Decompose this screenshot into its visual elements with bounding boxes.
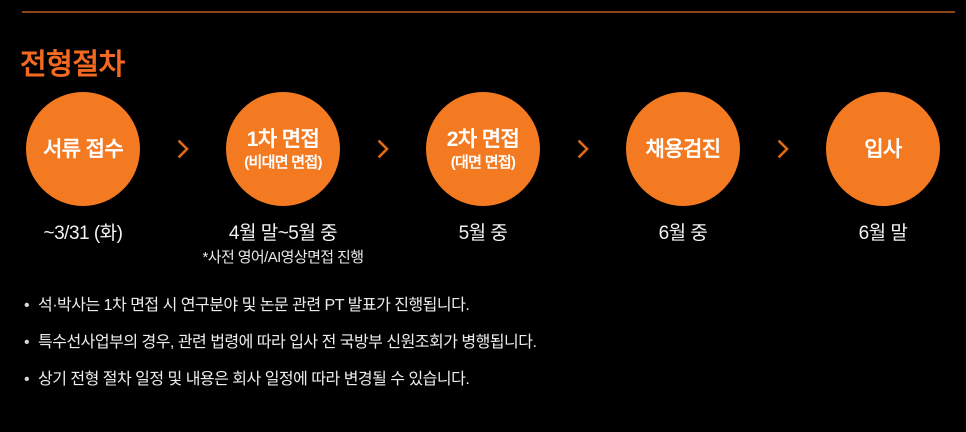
process-step-3-sublabel: (대면 면접): [451, 153, 515, 172]
process-step-1-label: 서류 접수: [43, 137, 123, 162]
process-step-2: 1차 면접 (비대면 면접) 4월 말~5월 중 *사전 영어/AI영상면접 진…: [195, 92, 371, 268]
process-step-1: 서류 접수 ~3/31 (화): [0, 92, 171, 246]
bullet-icon: •: [24, 369, 38, 391]
process-step-2-note: *사전 영어/AI영상면접 진행: [203, 248, 364, 268]
process-step-4-bubble: 채용검진: [626, 92, 740, 206]
note-item: • 석·박사는 1차 면접 시 연구분야 및 논문 관련 PT 발표가 진행됩니…: [24, 295, 924, 317]
note-item: • 상기 전형 절차 일정 및 내용은 회사 일정에 따라 변경될 수 있습니다…: [24, 369, 924, 391]
process-step-4-caption: 6월 중: [659, 222, 708, 246]
bullet-icon: •: [24, 332, 38, 354]
chevron-right-icon: [177, 139, 190, 159]
process-step-4-label: 채용검진: [646, 137, 721, 162]
note-text: 특수선사업부의 경우, 관련 법령에 따라 입사 전 국방부 신원조회가 병행됩…: [38, 332, 924, 354]
note-text: 석·박사는 1차 면접 시 연구분야 및 논문 관련 PT 발표가 진행됩니다.: [38, 295, 924, 317]
bullet-icon: •: [24, 295, 38, 317]
process-step-5-bubble: 입사: [826, 92, 940, 206]
process-step-3: 2차 면접 (대면 면접) 5월 중: [395, 92, 571, 246]
chevron-right-icon: [577, 139, 590, 159]
process-step-2-sublabel: (비대면 면접): [244, 153, 322, 172]
chevron-right-icon: [777, 139, 790, 159]
process-flow: 서류 접수 ~3/31 (화) 1차 면접 (비대면 면접) 4월 말~5월 중…: [0, 92, 966, 282]
process-step-1-caption: ~3/31 (화): [44, 222, 123, 246]
note-text: 상기 전형 절차 일정 및 내용은 회사 일정에 따라 변경될 수 있습니다.: [38, 369, 924, 391]
process-separator-2: [371, 92, 395, 206]
process-separator-1: [171, 92, 195, 206]
page-title: 전형절차: [20, 46, 125, 84]
process-step-5-caption: 6월 말: [859, 222, 908, 246]
process-step-2-bubble: 1차 면접 (비대면 면접): [226, 92, 340, 206]
chevron-right-icon: [377, 139, 390, 159]
process-step-3-label: 2차 면접: [447, 127, 519, 152]
process-step-5-label: 입사: [864, 137, 901, 162]
top-divider: [22, 11, 955, 13]
notes-list: • 석·박사는 1차 면접 시 연구분야 및 논문 관련 PT 발표가 진행됩니…: [24, 295, 924, 406]
process-step-4: 채용검진 6월 중: [595, 92, 771, 246]
process-step-2-caption: 4월 말~5월 중: [229, 222, 337, 246]
process-step-2-label: 1차 면접: [247, 127, 319, 152]
note-item: • 특수선사업부의 경우, 관련 법령에 따라 입사 전 국방부 신원조회가 병…: [24, 332, 924, 354]
process-separator-4: [771, 92, 795, 206]
process-step-3-caption: 5월 중: [459, 222, 508, 246]
recruitment-process-panel: 전형절차 서류 접수 ~3/31 (화) 1차 면접 (비대면 면접) 4월 말…: [0, 0, 966, 432]
process-separator-3: [571, 92, 595, 206]
process-step-3-bubble: 2차 면접 (대면 면접): [426, 92, 540, 206]
process-step-1-bubble: 서류 접수: [26, 92, 140, 206]
process-step-5: 입사 6월 말: [795, 92, 966, 246]
